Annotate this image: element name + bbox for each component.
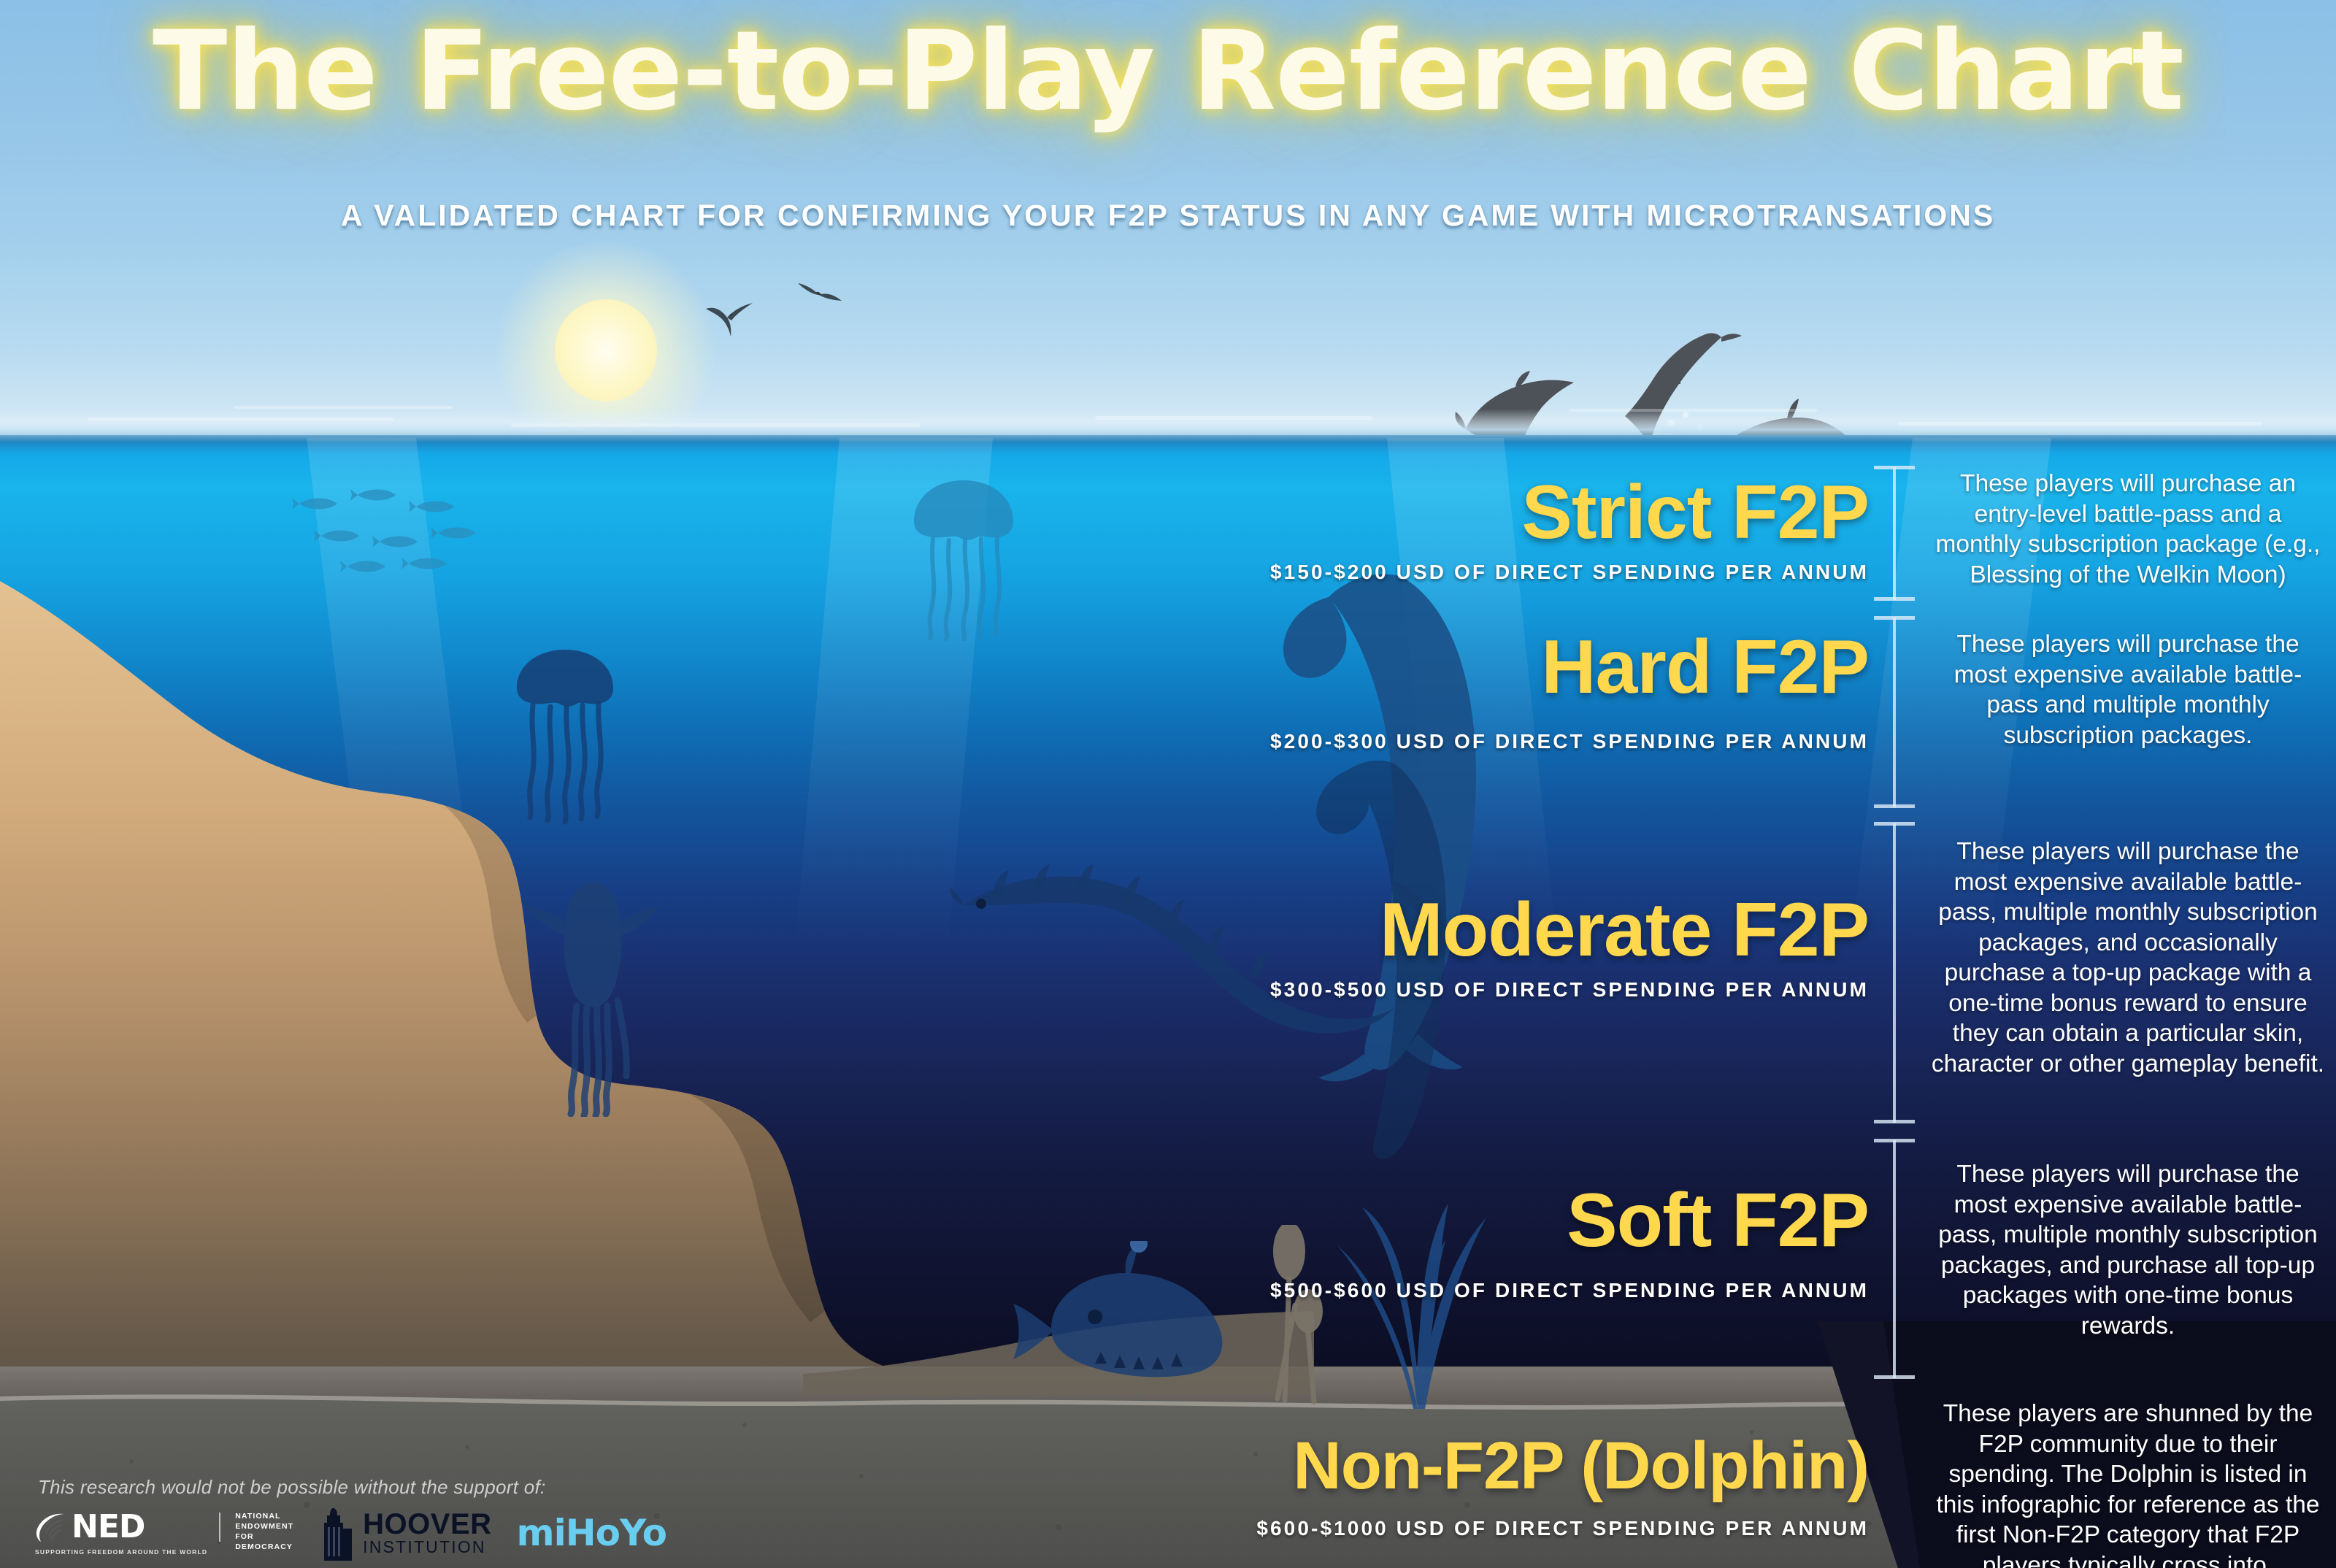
tier-description-moderate-f2p: These players will purchase the most exp…: [1931, 837, 2325, 1079]
wave-icon: [88, 418, 394, 421]
tier-spending-strict-f2p: $150-$200 USD OF DIRECT SPENDING PER ANN…: [949, 561, 1869, 584]
wave-icon: [1898, 422, 2263, 426]
ned-line-2: ENDOWMENT: [235, 1521, 293, 1532]
tier-bracket-hard-f2p: [1893, 618, 1896, 807]
tier-description-hard-f2p: These players will purchase the most exp…: [1931, 629, 2325, 750]
page-subtitle: A VALIDATED CHART FOR CONFIRMING YOUR F2…: [0, 199, 2336, 233]
ned-divider: [219, 1513, 220, 1542]
tier-spending-non-f2p-dolphin: $600-$1000 USD OF DIRECT SPENDING PER AN…: [905, 1517, 1869, 1540]
tier-description-soft-f2p: These players will purchase the most exp…: [1931, 1159, 2325, 1341]
ned-tagline: SUPPORTING FREEDOM AROUND THE WORLD: [35, 1548, 207, 1556]
squid-icon: [511, 876, 679, 1117]
wave-icon: [1095, 416, 1372, 420]
tier-bracket-cap-top: [1874, 1139, 1915, 1142]
anglerfish-icon: [1007, 1241, 1285, 1402]
tier-bracket-strict-f2p: [1893, 467, 1896, 600]
tier-description-strict-f2p: These players will purchase an entry-lev…: [1931, 469, 2325, 590]
jellyfish-deep-icon: [504, 642, 628, 825]
ned-globe-icon: [35, 1511, 66, 1543]
tier-bracket-moderate-f2p: [1893, 823, 1896, 1123]
tier-label-hard-f2p: Hard F2P: [949, 629, 1869, 705]
ned-logo: NED SUPPORTING FREEDOM AROUND THE WORLD …: [35, 1511, 293, 1556]
support-credit-line: This research would not be possible with…: [38, 1476, 546, 1499]
hoover-line-1: HOOVER: [363, 1510, 491, 1539]
seagull-icon: [704, 296, 756, 339]
hoover-logo: HOOVER INSTITUTION: [318, 1505, 491, 1561]
ned-line-4: DEMOCRACY: [235, 1542, 293, 1552]
tier-bracket-cap-top: [1874, 466, 1915, 469]
seagull-icon: [796, 277, 844, 314]
fish-school-icon: [292, 482, 504, 584]
ned-line-1: NATIONAL: [235, 1511, 293, 1521]
tier-bracket-cap-bottom: [1874, 1375, 1915, 1379]
page-title: The Free-to-Play Reference Chart: [0, 16, 2336, 128]
tier-description-non-f2p-dolphin: These players are shunned by the F2P com…: [1931, 1399, 2325, 1568]
sponsor-logos: NED SUPPORTING FREEDOM AROUND THE WORLD …: [35, 1505, 666, 1561]
tier-bracket-soft-f2p: [1893, 1140, 1896, 1378]
tier-bracket-cap-top: [1874, 616, 1915, 620]
sun-icon: [555, 299, 657, 401]
tier-spending-moderate-f2p: $300-$500 USD OF DIRECT SPENDING PER ANN…: [949, 978, 1869, 1002]
wave-icon: [234, 406, 453, 409]
tier-bracket-cap-bottom: [1874, 1120, 1915, 1123]
tier-label-non-f2p-dolphin: Non-F2P (Dolphin): [905, 1432, 1869, 1499]
tier-label-moderate-f2p: Moderate F2P: [949, 892, 1869, 968]
tier-label-soft-f2p: Soft F2P: [949, 1183, 1869, 1258]
tier-bracket-cap-bottom: [1874, 597, 1915, 601]
tier-spending-hard-f2p: $200-$300 USD OF DIRECT SPENDING PER ANN…: [949, 730, 1869, 753]
hoover-line-2: INSTITUTION: [363, 1539, 491, 1555]
hoover-tower-icon: [318, 1505, 355, 1561]
tier-bracket-cap-top: [1874, 822, 1915, 826]
ned-line-3: FOR: [235, 1532, 293, 1542]
tier-bracket-cap-bottom: [1874, 804, 1915, 808]
infographic-poster: The Free-to-Play Reference Chart A VALID…: [0, 0, 2336, 1568]
wave-icon: [1569, 409, 1818, 412]
wave-icon: [511, 423, 920, 427]
tier-spending-soft-f2p: $500-$600 USD OF DIRECT SPENDING PER ANN…: [949, 1279, 1869, 1302]
ned-wordmark: NED: [72, 1511, 145, 1543]
mihoyo-logo: miHoYo: [517, 1512, 666, 1554]
tier-label-strict-f2p: Strict F2P: [949, 474, 1869, 550]
